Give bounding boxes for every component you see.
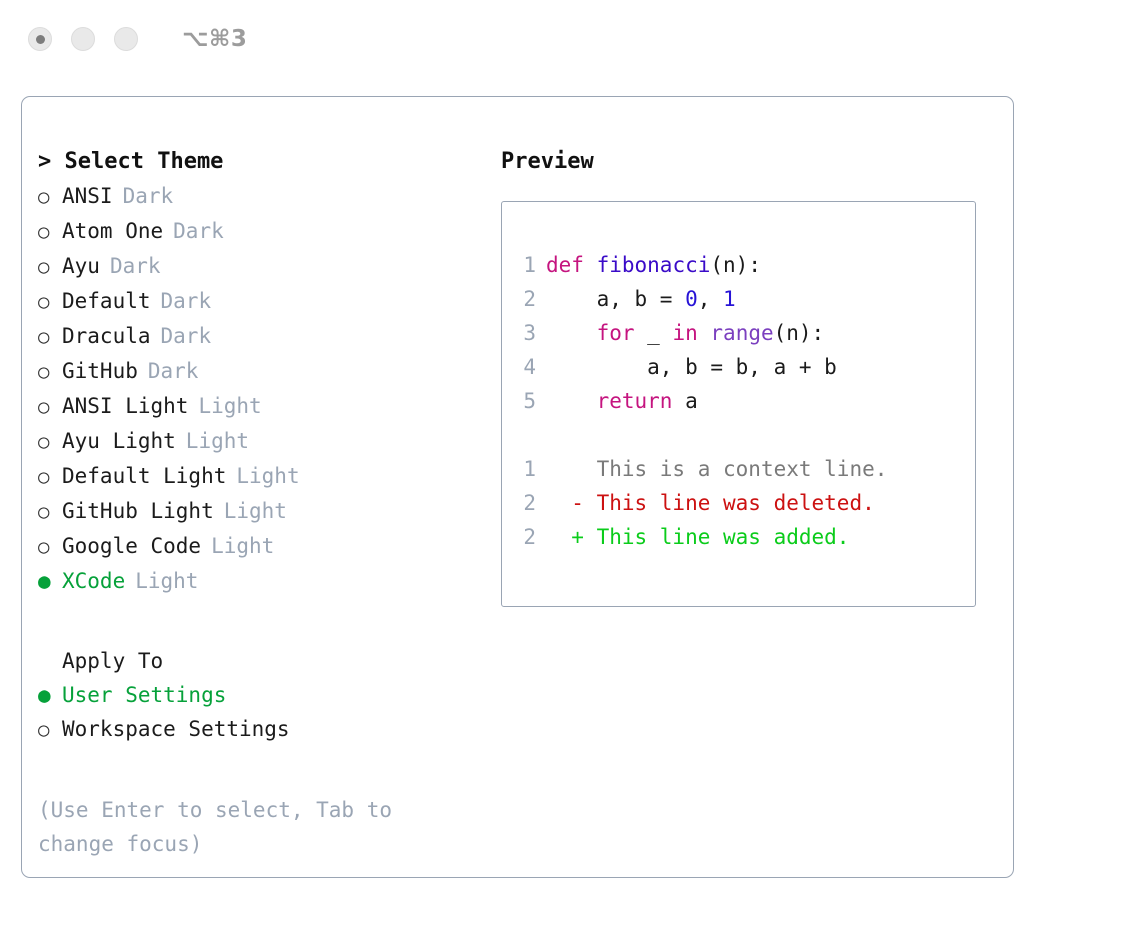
theme-list-item[interactable]: ○Ayu LightLight [38,424,488,459]
radio-unselected-icon: ○ [38,530,62,564]
code-line: 3 for _ in range(n): [502,316,975,350]
theme-name-label: GitHub [62,354,138,388]
code-line: 4 a, b = b, a + b [502,350,975,384]
line-number: 2 [502,486,546,520]
theme-name-label: Default Light [62,459,226,493]
diff-line: 2 + This line was added. [502,520,975,554]
radio-selected-icon: ● [38,678,62,712]
select-theme-header: > Select Theme [38,145,488,179]
diff-marker: + [546,520,597,554]
list-spacer [38,598,488,644]
theme-kind-badge: Dark [173,214,224,248]
code-line-text: a, b = b, a + b [546,350,837,384]
radio-unselected-icon: ○ [38,425,62,459]
apply-to-label: User Settings [62,678,226,712]
apply-to-list: ●User Settings○Workspace Settings [38,678,488,747]
theme-list-item[interactable]: ○Atom OneDark [38,214,488,249]
diff-line-text: This line was deleted. [597,486,875,520]
preview-code-box: 1def fibonacci(n):2 a, b = 0, 13 for _ i… [501,201,976,607]
line-number: 2 [502,520,546,554]
theme-list-item[interactable]: ○AyuDark [38,249,488,284]
code-token-kw: return [597,389,673,413]
theme-kind-badge: Dark [161,319,212,353]
code-token-plain [584,253,597,277]
code-sample: 1def fibonacci(n):2 a, b = 0, 13 for _ i… [502,248,975,418]
code-token-plain: _ [635,321,673,345]
code-token-kw: for [597,321,635,345]
hint-spacer [38,747,488,793]
code-token-kw: def [546,253,584,277]
radio-unselected-icon: ○ [38,713,62,747]
code-token-plain: (n): [710,253,761,277]
theme-name-label: XCode [62,564,125,598]
radio-unselected-icon: ○ [38,215,62,249]
radio-unselected-icon: ○ [38,495,62,529]
code-token-plain [546,389,597,413]
main-panel: > Select Theme ○ANSIDark○Atom OneDark○Ay… [21,96,1014,878]
code-token-plain [546,321,597,345]
code-token-num: 0 [685,287,698,311]
theme-list: ○ANSIDark○Atom OneDark○AyuDark○DefaultDa… [38,179,488,598]
theme-name-label: Google Code [62,529,201,563]
theme-kind-badge: Light [236,459,299,493]
radio-unselected-icon: ○ [38,250,62,284]
theme-name-label: ANSI Light [62,389,188,423]
apply-to-label: Workspace Settings [62,712,290,746]
preview-header: Preview [501,145,1001,179]
theme-list-item[interactable]: ●XCodeLight [38,564,488,598]
keyboard-shortcut-label: ⌥⌘3 [182,26,247,52]
radio-selected-icon: ● [38,564,62,598]
theme-kind-badge: Light [224,494,287,528]
line-number: 2 [502,282,546,316]
theme-list-item[interactable]: ○ANSIDark [38,179,488,214]
diff-marker [546,452,597,486]
code-token-num: 1 [723,287,736,311]
diff-sample: 1 This is a context line.2 - This line w… [502,452,975,554]
theme-list-item[interactable]: ○GitHubDark [38,354,488,389]
line-number: 4 [502,350,546,384]
radio-unselected-icon: ○ [38,180,62,214]
code-token-plain: (n): [774,321,825,345]
theme-kind-badge: Dark [123,179,174,213]
apply-to-option[interactable]: ●User Settings [38,678,488,712]
code-line-text: def fibonacci(n): [546,248,761,282]
window-dot-inner [36,35,45,44]
apply-to-option[interactable]: ○Workspace Settings [38,712,488,747]
radio-unselected-icon: ○ [38,460,62,494]
theme-name-label: Ayu [62,249,100,283]
line-number: 3 [502,316,546,350]
theme-list-item[interactable]: ○DefaultDark [38,284,488,319]
code-diff-separator [502,418,975,452]
code-token-plain: a [672,389,697,413]
line-number: 1 [502,248,546,282]
radio-unselected-icon: ○ [38,320,62,354]
diff-line: 1 This is a context line. [502,452,975,486]
theme-name-label: GitHub Light [62,494,214,528]
window-controls [28,27,138,51]
theme-name-label: ANSI [62,179,113,213]
theme-kind-badge: Light [186,424,249,458]
code-line: 1def fibonacci(n): [502,248,975,282]
diff-marker: - [546,486,597,520]
code-line: 5 return a [502,384,975,418]
theme-kind-badge: Light [198,389,261,423]
app-window: ⌥⌘3 > Select Theme ○ANSIDark○Atom OneDar… [0,0,1140,934]
diff-line: 2 - This line was deleted. [502,486,975,520]
code-token-fn: fibonacci [597,253,711,277]
line-number: 1 [502,452,546,486]
code-token-kw: in [672,321,697,345]
window-dot-active-icon[interactable] [28,27,52,51]
radio-unselected-icon: ○ [38,285,62,319]
theme-list-item[interactable]: ○DraculaDark [38,319,488,354]
code-line-text: a, b = 0, 1 [546,282,736,316]
keyboard-hint: (Use Enter to select, Tab to change focu… [38,793,438,861]
radio-unselected-icon: ○ [38,390,62,424]
window-titlebar: ⌥⌘3 [0,0,1140,78]
apply-to-header: Apply To [38,644,488,678]
theme-list-item[interactable]: ○GitHub LightLight [38,494,488,529]
theme-name-label: Dracula [62,319,151,353]
theme-name-label: Atom One [62,214,163,248]
code-line-text: for _ in range(n): [546,316,824,350]
theme-kind-badge: Dark [161,284,212,318]
line-number: 5 [502,384,546,418]
diff-line-text: This is a context line. [597,452,888,486]
window-dot-third-icon[interactable] [114,27,138,51]
code-token-plain: a, b = [546,287,685,311]
theme-kind-badge: Dark [148,354,199,388]
theme-kind-badge: Dark [110,249,161,283]
radio-unselected-icon: ○ [38,355,62,389]
code-line: 2 a, b = 0, 1 [502,282,975,316]
preview-column: Preview 1def fibonacci(n):2 a, b = 0, 13… [501,145,1001,607]
theme-list-item[interactable]: ○ANSI LightLight [38,389,488,424]
diff-line-text: This line was added. [597,520,850,554]
theme-list-item[interactable]: ○Google CodeLight [38,529,488,564]
theme-kind-badge: Light [135,564,198,598]
code-token-plain: a, b = b, a + b [546,355,837,379]
theme-picker-column: > Select Theme ○ANSIDark○Atom OneDark○Ay… [38,145,488,861]
code-token-call: range [710,321,773,345]
theme-name-label: Default [62,284,151,318]
theme-name-label: Ayu Light [62,424,176,458]
code-token-plain [698,321,711,345]
theme-kind-badge: Light [211,529,274,563]
code-token-plain: , [698,287,723,311]
code-line-text: return a [546,384,698,418]
theme-list-item[interactable]: ○Default LightLight [38,459,488,494]
window-dot-second-icon[interactable] [71,27,95,51]
